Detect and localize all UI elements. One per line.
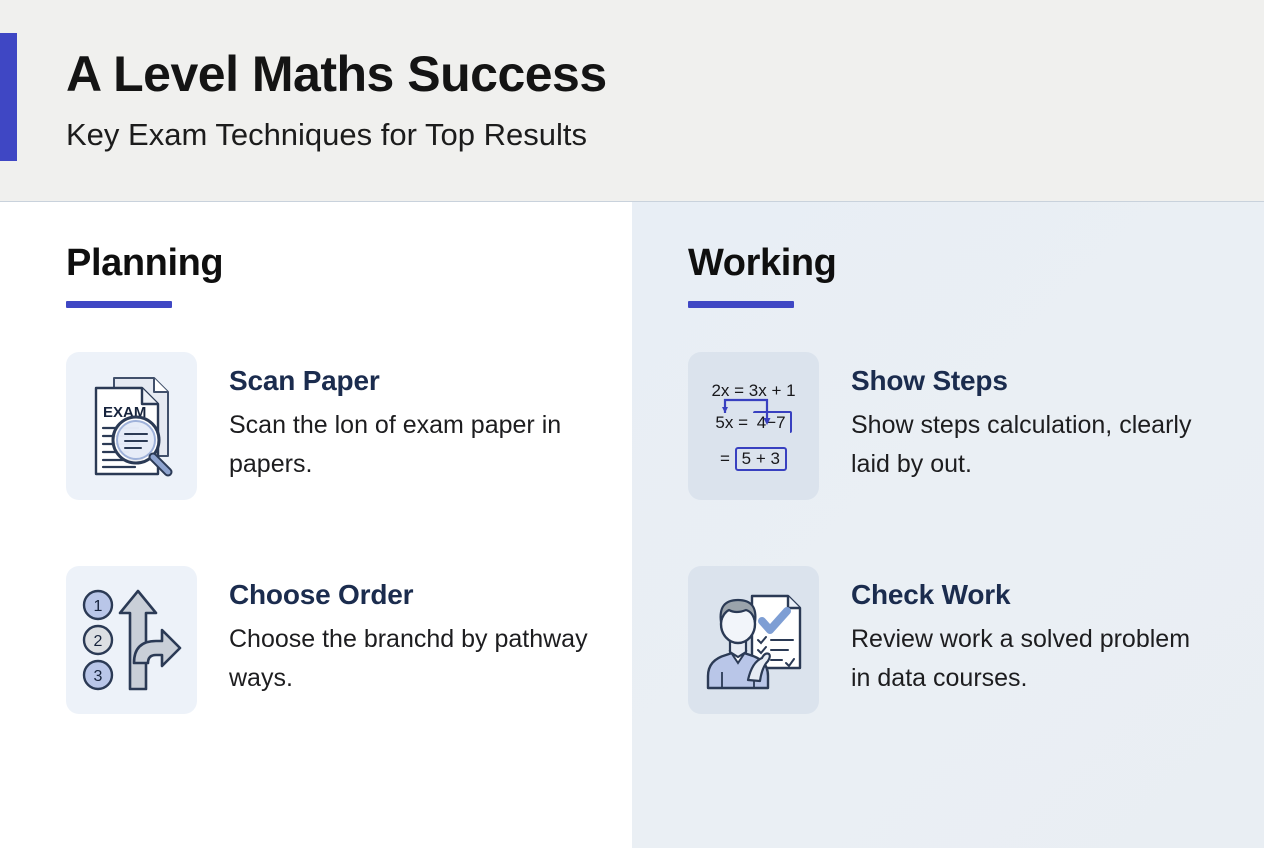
card-body-choose-order: Choose Order Choose the branchd by pathw… (229, 566, 589, 698)
person-checklist-icon (700, 584, 808, 696)
card-list-working: 2x = 3x + 1 5x = 4−7 = 5 + 3 (688, 352, 1264, 714)
content-columns: Planning EXAM (0, 202, 1264, 848)
column-working: Working 2x = 3x + 1 5x = 4−7 (632, 202, 1264, 848)
card-description-choose-order: Choose the branchd by pathway ways. (229, 620, 589, 698)
column-underline-planning (66, 301, 172, 308)
column-planning: Planning EXAM (0, 202, 632, 848)
card-show-steps[interactable]: 2x = 3x + 1 5x = 4−7 = 5 + 3 (688, 352, 1264, 500)
column-heading-planning: Planning (66, 240, 632, 286)
header-text-block: A Level Maths Success Key Exam Technique… (66, 44, 607, 156)
card-body-check-work: Check Work Review work a solved problem … (851, 566, 1211, 698)
page-title: A Level Maths Success (66, 44, 607, 104)
exam-paper-magnifier-icon: EXAM (80, 370, 184, 482)
card-title-choose-order: Choose Order (229, 578, 589, 612)
card-description-show-steps: Show steps calculation, clearly laid by … (851, 406, 1211, 484)
equation-line-3-lhs: = (720, 449, 735, 468)
card-check-work[interactable]: Check Work Review work a solved problem … (688, 566, 1264, 714)
equation-arrow-icon (723, 397, 783, 427)
card-description-scan-paper: Scan the lon of exam paper in papers. (229, 406, 574, 484)
column-heading-working: Working (688, 240, 1264, 286)
equation-line-2: 5x = 4−7 (695, 411, 813, 433)
card-title-show-steps: Show Steps (851, 364, 1211, 398)
icon-tile-scan-paper: EXAM (66, 352, 197, 500)
card-body-show-steps: Show Steps Show steps calculation, clear… (851, 352, 1211, 484)
page-header: A Level Maths Success Key Exam Technique… (0, 0, 1264, 202)
card-title-scan-paper: Scan Paper (229, 364, 574, 398)
icon-tile-show-steps: 2x = 3x + 1 5x = 4−7 = 5 + 3 (688, 352, 819, 500)
equation-line-3-boxed: 5 + 3 (735, 447, 787, 471)
card-body-scan-paper: Scan Paper Scan the lon of exam paper in… (229, 352, 574, 484)
card-scan-paper[interactable]: EXAM (66, 352, 632, 500)
svg-text:3: 3 (93, 668, 102, 685)
equation-line-3: = 5 + 3 (695, 447, 813, 471)
card-title-check-work: Check Work (851, 578, 1211, 612)
card-list-planning: EXAM (66, 352, 632, 714)
svg-text:1: 1 (93, 598, 102, 615)
page-subtitle: Key Exam Techniques for Top Results (66, 114, 607, 156)
header-accent-bar (0, 33, 17, 161)
numbered-branching-arrows-icon: 1 2 3 (78, 583, 186, 697)
column-underline-working (688, 301, 794, 308)
svg-text:2: 2 (93, 633, 102, 650)
algebra-equation-steps-icon: 2x = 3x + 1 5x = 4−7 = 5 + 3 (695, 381, 813, 471)
icon-tile-choose-order: 1 2 3 (66, 566, 197, 714)
card-description-check-work: Review work a solved problem in data cou… (851, 620, 1211, 698)
icon-tile-check-work (688, 566, 819, 714)
infographic-page: A Level Maths Success Key Exam Technique… (0, 0, 1264, 848)
card-choose-order[interactable]: 1 2 3 Choose Order Choo (66, 566, 632, 714)
